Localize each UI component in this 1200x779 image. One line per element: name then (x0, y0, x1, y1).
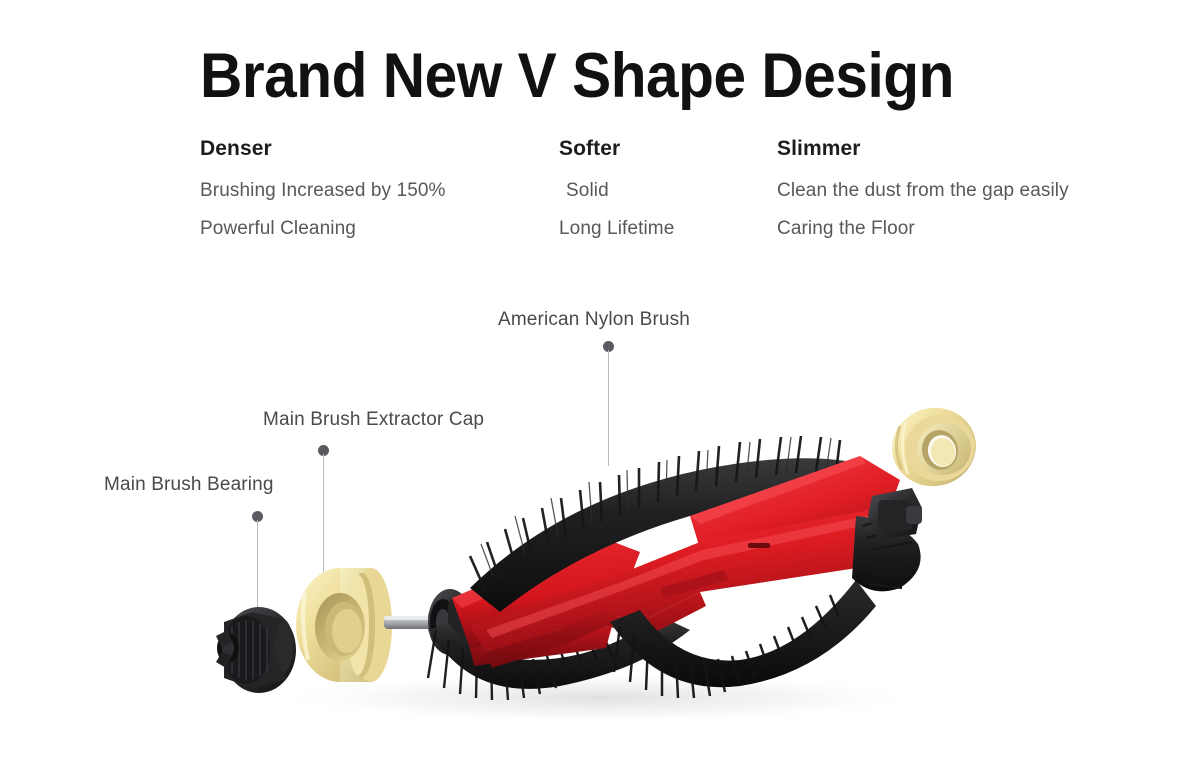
feature-line-1: Brushing Increased by 150% (200, 179, 446, 203)
feature-line-2: Caring the Floor (777, 217, 1069, 241)
feature-title: Denser (200, 136, 446, 162)
feature-line-1: Solid (559, 179, 674, 203)
feature-title: Slimmer (777, 136, 1069, 162)
feature-column-slimmer: Slimmer Clean the dust from the gap easi… (777, 136, 1069, 241)
feature-line-2: Powerful Cleaning (200, 217, 446, 241)
main-brush-bearing (216, 607, 296, 693)
feature-columns: Denser Brushing Increased by 150% Powerf… (200, 136, 1160, 256)
product-illustration (0, 330, 1200, 750)
feature-line-2: Long Lifetime (559, 217, 674, 241)
main-brush-extractor-cap (296, 568, 392, 682)
page-title: Brand New V Shape Design (200, 40, 954, 112)
product-infographic: Brand New V Shape Design Denser Brushing… (0, 0, 1200, 779)
feature-column-denser: Denser Brushing Increased by 150% Powerf… (200, 136, 446, 241)
feature-column-softer: Softer Solid Long Lifetime (559, 136, 674, 241)
feature-line-1: Clean the dust from the gap easily (777, 179, 1069, 203)
callout-american-nylon-brush-label: American Nylon Brush (498, 308, 690, 332)
end-cap (868, 488, 922, 540)
roller-brush-body (428, 436, 922, 700)
feature-title: Softer (559, 136, 674, 162)
